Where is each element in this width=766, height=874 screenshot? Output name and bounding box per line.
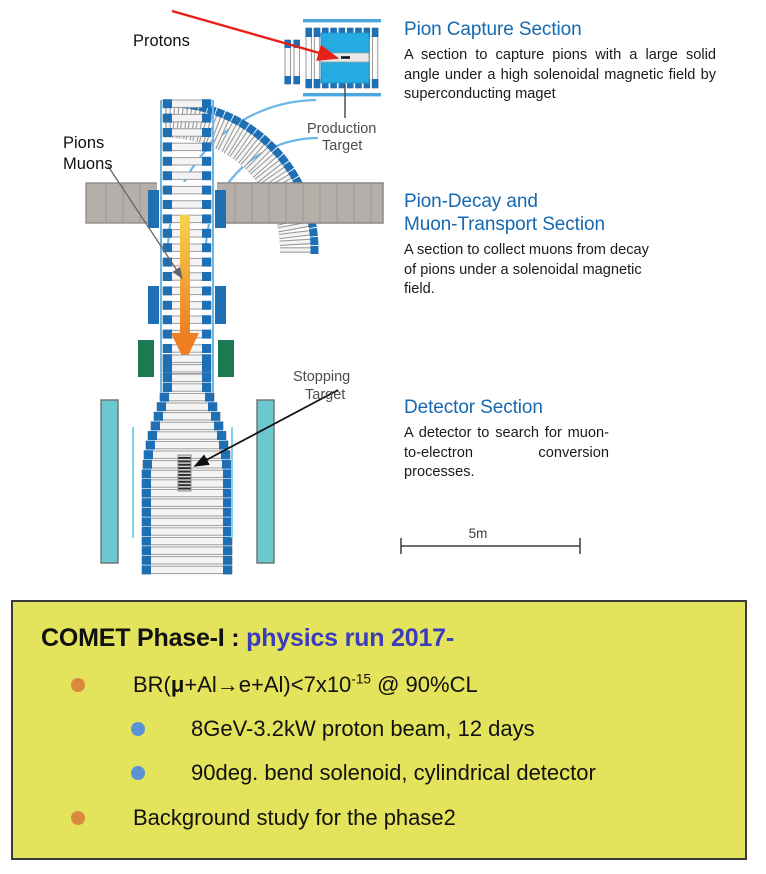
summary-box: COMET Phase-I : physics run 2017- BR(μ+A… <box>11 600 747 860</box>
stopping-target-marker <box>178 455 191 491</box>
summary-bullet-4: Background study for the phase2 <box>71 806 745 830</box>
summary-bullet-text: BR(μ+Al→e+Al)<7x10-15 @ 90%CL <box>133 673 478 697</box>
green-block-left <box>138 340 154 377</box>
bullet-dot-icon <box>71 811 85 825</box>
production-target-marker <box>341 56 350 59</box>
slide-root: Protons Pions Muons Production Target St… <box>0 0 766 874</box>
shield-block-left-upper <box>148 190 159 228</box>
label-pions: Pions <box>63 134 104 152</box>
summary-bullet-3: 90deg. bend solenoid, cylindrical detect… <box>131 761 745 785</box>
shield-block-left-lower <box>148 286 159 324</box>
label-protons: Protons <box>133 32 190 50</box>
shielding-wall <box>86 182 383 224</box>
label-scale-bar: 5m <box>469 526 488 541</box>
summary-bullet-text: Background study for the phase2 <box>133 806 456 830</box>
scale-bar <box>401 538 580 554</box>
note-detector-body: A detector to search for muon-to-electro… <box>404 424 609 482</box>
note-pion-capture: Pion Capture Section A section to captur… <box>404 18 716 104</box>
summary-title: COMET Phase-I : physics run 2017- <box>41 624 745 653</box>
detector-section <box>101 354 338 574</box>
summary-bullet-1: BR(μ+Al→e+Al)<7x10-15 @ 90%CL <box>71 673 745 697</box>
summary-title-highlight: physics run 2017- <box>246 624 454 652</box>
green-block-right <box>218 340 234 377</box>
pion-capture-section <box>284 19 381 118</box>
note-capture-heading: Pion Capture Section <box>404 18 716 41</box>
note-pion-decay-muon-transport: Pion-Decay and Muon-Transport Section A … <box>404 190 654 300</box>
summary-bullet-2: 8GeV-3.2kW proton beam, 12 days <box>131 717 745 741</box>
note-transport-body: A section to collect muons from decay of… <box>404 241 654 299</box>
note-detector: Detector Section A detector to search fo… <box>404 396 609 482</box>
label-stopping-target-line1: Stopping <box>293 369 350 385</box>
summary-bullet-text: 90deg. bend solenoid, cylindrical detect… <box>191 761 596 785</box>
bullet-dot-icon <box>131 722 145 736</box>
note-transport-heading: Pion-Decay and Muon-Transport Section <box>404 190 654 236</box>
shield-block-right-lower <box>215 286 226 324</box>
note-transport-heading-line1: Pion-Decay and <box>404 191 538 212</box>
note-transport-heading-line2: Muon-Transport Section <box>404 214 605 235</box>
proton-beam-arrow <box>172 11 337 58</box>
shield-block-right-upper <box>215 190 226 228</box>
summary-bullet-text: 8GeV-3.2kW proton beam, 12 days <box>191 717 535 741</box>
label-stopping-target-line2: Target <box>305 387 345 403</box>
bullet-dot-icon <box>131 766 145 780</box>
label-production-target-line2: Target <box>322 138 362 154</box>
label-muons: Muons <box>63 155 113 173</box>
note-detector-heading: Detector Section <box>404 396 609 419</box>
label-production-target-line1: Production <box>307 121 376 137</box>
summary-title-plain: COMET Phase-I : <box>41 624 246 652</box>
detector-column-left <box>101 400 118 563</box>
bullet-dot-icon <box>71 678 85 692</box>
summary-bullet-list: BR(μ+Al→e+Al)<7x10-15 @ 90%CL8GeV-3.2kW … <box>13 673 745 830</box>
note-capture-body: A section to capture pions with a large … <box>404 46 716 104</box>
